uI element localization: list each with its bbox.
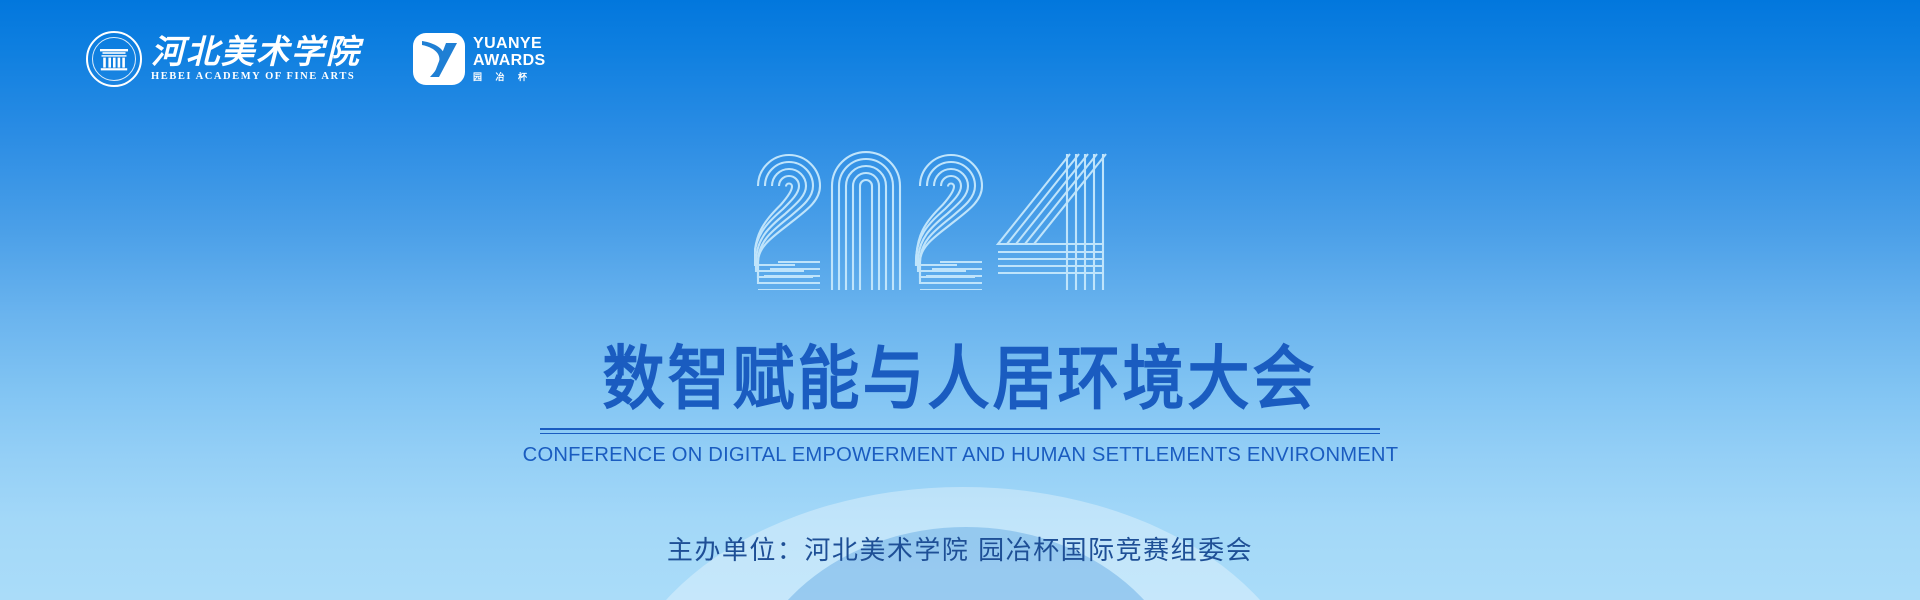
yuanye-wordmark: YUANYE AWARDS 园 冶 杯 <box>473 36 546 83</box>
hebei-academy-logo[interactable]: 河北美术学院 HEBEI ACADEMY OF FINE ARTS <box>86 31 361 87</box>
hebei-name-cn: 河北美术学院 <box>151 36 361 70</box>
digit-4 <box>998 154 1106 290</box>
digit-2-second <box>916 155 982 283</box>
yuanye-swoosh-glyph <box>413 33 465 85</box>
yuanye-name-cn: 园 冶 杯 <box>473 71 546 83</box>
divider-rule-top <box>540 428 1380 430</box>
conference-banner: 河北美术学院 HEBEI ACADEMY OF FINE ARTS YUANYE… <box>0 0 1920 600</box>
conference-title-cn: 数智赋能与人居环境大会 <box>602 340 1317 421</box>
yuanye-swoosh-icon <box>413 33 465 85</box>
yuanye-line1: YUANYE <box>473 36 546 52</box>
divider-rule-bottom <box>540 433 1380 435</box>
conference-title-en: CONFERENCE ON DIGITAL EMPOWERMENT AND HU… <box>522 443 1398 467</box>
academy-seal-icon <box>86 31 142 87</box>
organizer-line: 主办单位：河北美术学院 园冶杯国际竞赛组委会 <box>0 534 1920 566</box>
hebei-name-en: HEBEI ACADEMY OF FINE ARTS <box>151 71 361 83</box>
yuanye-line2: AWARDS <box>473 53 546 69</box>
hebei-wordmark: 河北美术学院 HEBEI ACADEMY OF FINE ARTS <box>151 36 361 83</box>
title-divider-rules <box>540 428 1380 434</box>
digit-0 <box>832 152 900 290</box>
year-2024-striped-icon <box>754 140 1166 290</box>
yuanye-awards-logo[interactable]: YUANYE AWARDS 园 冶 杯 <box>413 33 546 85</box>
title-block: 数智赋能与人居环境大会 CONFERENCE ON DIGITAL EMPOWE… <box>0 340 1920 467</box>
year-bottom-stripes <box>758 262 982 290</box>
logo-row: 河北美术学院 HEBEI ACADEMY OF FINE ARTS YUANYE… <box>86 28 546 90</box>
gate-glyph-icon <box>100 49 128 71</box>
digit-2-first <box>754 155 820 283</box>
year-graphic <box>0 140 1920 290</box>
